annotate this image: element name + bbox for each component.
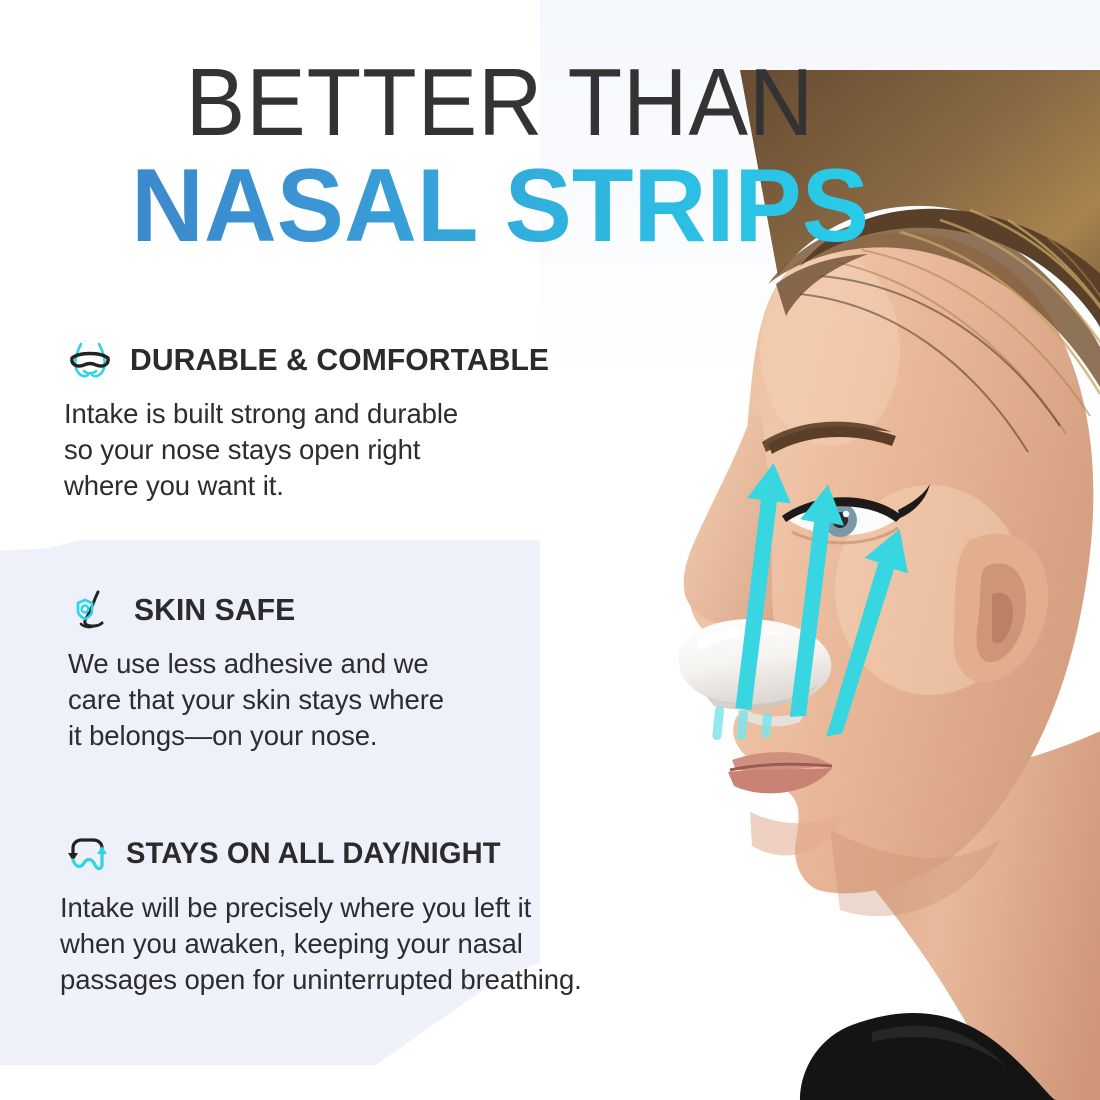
headline-line-2: NASAL STRIPS [15, 154, 985, 258]
day-night-cycle-icon [60, 832, 112, 876]
feature-title: STAYS ON ALL DAY/NIGHT [126, 837, 501, 871]
feature-body-line: care that your skin stays where [68, 682, 444, 718]
feature-body: Intake will be precisely where you left … [60, 890, 582, 997]
infographic-canvas: BETTER THAN NASAL STRIPS DURABLE & COMFO… [0, 0, 1100, 1100]
headline-line-1: BETTER THAN [35, 56, 965, 150]
feature-body-line: We use less adhesive and we [68, 646, 444, 682]
nose-profile-shield-icon [68, 588, 120, 632]
feature-body-line: Intake will be precisely where you left … [60, 890, 582, 926]
feature-durable-comfortable: DURABLE & COMFORTABLE Intake is built st… [64, 338, 562, 503]
feature-body: Intake is built strong and durable so yo… [64, 396, 562, 503]
feature-header: DURABLE & COMFORTABLE [64, 338, 562, 382]
feature-body-line: passages open for uninterrupted breathin… [60, 962, 582, 998]
feature-body-line: when you awaken, keeping your nasal [60, 926, 582, 962]
feature-header: STAYS ON ALL DAY/NIGHT [60, 832, 582, 876]
feature-title: SKIN SAFE [134, 592, 295, 628]
feature-skin-safe: SKIN SAFE We use less adhesive and we ca… [68, 588, 444, 753]
page-title: BETTER THAN NASAL STRIPS [0, 56, 1000, 258]
feature-title: DURABLE & COMFORTABLE [130, 342, 549, 378]
feature-body-line: it belongs—on your nose. [68, 718, 444, 754]
nasal-dilator-nose-icon [64, 338, 116, 382]
feature-header: SKIN SAFE [68, 588, 444, 632]
feature-body: We use less adhesive and we care that yo… [68, 646, 444, 753]
feature-body-line: where you want it. [64, 468, 562, 504]
feature-body-line: so your nose stays open right [64, 432, 562, 468]
feature-body-line: Intake is built strong and durable [64, 396, 562, 432]
feature-stays-on-all-day-night: STAYS ON ALL DAY/NIGHT Intake will be pr… [60, 832, 582, 997]
